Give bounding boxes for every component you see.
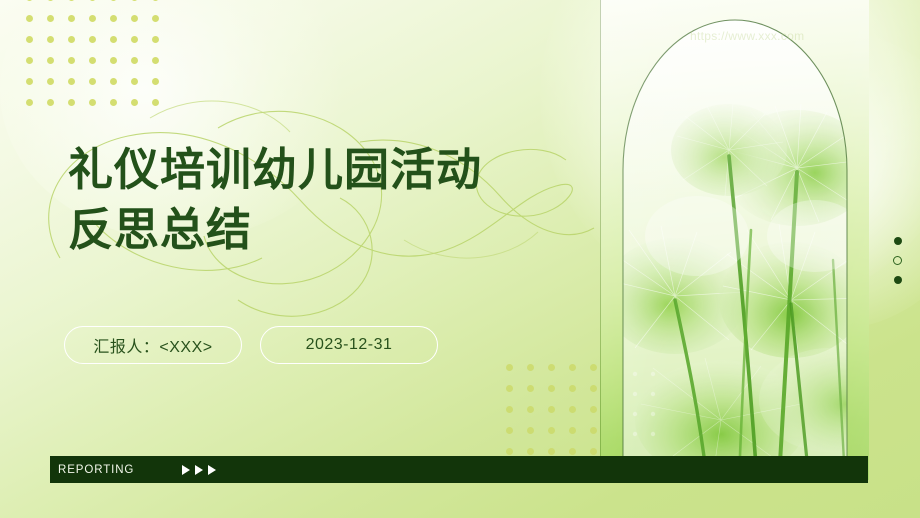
- decor-dot: [527, 448, 534, 455]
- decor-dot: [26, 36, 33, 43]
- decor-dot: [506, 406, 513, 413]
- decor-dot: [152, 57, 159, 64]
- decor-dot: [47, 36, 54, 43]
- decor-dot: [590, 406, 597, 413]
- decor-dot: [47, 78, 54, 85]
- decor-dot: [527, 427, 534, 434]
- page-title: 礼仪培训幼儿园活动 反思总结: [68, 140, 568, 260]
- decor-dot: [26, 99, 33, 106]
- reporting-label: REPORTING: [58, 464, 134, 476]
- decor-dot: [569, 385, 576, 392]
- presentation-slide: https://www.xxx.com 礼仪培训幼儿园活动 反思总结 汇报人：<…: [0, 0, 920, 518]
- presenter-pill[interactable]: 汇报人：<XXX>: [64, 326, 242, 364]
- lotus-leaf-illustration: [601, 0, 869, 480]
- decor-dot: [152, 36, 159, 43]
- decor-dot: [89, 99, 96, 106]
- decor-dot: [26, 0, 33, 1]
- decor-dot: [68, 15, 75, 22]
- decorative-dot-grid-top-left: [26, 0, 173, 120]
- decor-dot: [47, 99, 54, 106]
- play-triangle-icon: [195, 465, 203, 475]
- decor-dot: [47, 0, 54, 1]
- decor-dot: [527, 364, 534, 371]
- dot-filled-bottom-icon[interactable]: [894, 276, 902, 284]
- decor-dot: [89, 15, 96, 22]
- decor-dot: [110, 78, 117, 85]
- decor-dot: [506, 448, 513, 455]
- decor-dot: [131, 15, 138, 22]
- decor-dot: [89, 0, 96, 1]
- reporting-bar: REPORTING: [50, 456, 868, 483]
- title-block: 礼仪培训幼儿园活动 反思总结: [68, 140, 568, 260]
- decor-dot: [47, 15, 54, 22]
- decor-dot: [548, 385, 555, 392]
- decor-dot: [527, 385, 534, 392]
- decor-dot: [68, 78, 75, 85]
- decor-dot: [590, 427, 597, 434]
- decor-dot: [131, 78, 138, 85]
- decor-dot: [506, 385, 513, 392]
- decor-dot: [569, 427, 576, 434]
- decor-dot: [26, 15, 33, 22]
- decor-dot: [152, 15, 159, 22]
- decor-dot: [131, 99, 138, 106]
- decor-dot: [110, 36, 117, 43]
- decor-dot: [590, 448, 597, 455]
- play-triangle-icon: [182, 465, 190, 475]
- decor-dot: [131, 0, 138, 1]
- side-dot-indicator[interactable]: [893, 237, 902, 284]
- hero-image-panel: [600, 0, 869, 480]
- decor-dot: [569, 448, 576, 455]
- play-triangle-icon: [208, 465, 216, 475]
- decor-dot: [506, 427, 513, 434]
- decor-dot: [26, 78, 33, 85]
- decor-dot: [47, 57, 54, 64]
- dot-filled-top-icon[interactable]: [894, 237, 902, 245]
- decor-dot: [590, 364, 597, 371]
- decor-dot: [548, 427, 555, 434]
- decor-dot: [131, 36, 138, 43]
- decor-dot: [89, 36, 96, 43]
- meta-pill-row: 汇报人：<XXX> 2023-12-31: [64, 326, 438, 364]
- decor-dot: [569, 406, 576, 413]
- decor-dot: [68, 99, 75, 106]
- decor-dot: [110, 57, 117, 64]
- decor-dot: [152, 78, 159, 85]
- reporting-arrows: [182, 465, 216, 475]
- decor-dot: [89, 57, 96, 64]
- dot-hollow-middle-icon[interactable]: [893, 256, 902, 265]
- decor-dot: [548, 364, 555, 371]
- decor-dot: [68, 0, 75, 1]
- decor-dot: [590, 385, 597, 392]
- decor-dot: [131, 57, 138, 64]
- decor-dot: [569, 364, 576, 371]
- date-pill[interactable]: 2023-12-31: [260, 326, 438, 364]
- decor-dot: [68, 36, 75, 43]
- decor-dot: [89, 78, 96, 85]
- decor-dot: [527, 406, 534, 413]
- decor-dot: [548, 448, 555, 455]
- decor-dot: [110, 99, 117, 106]
- decor-dot: [110, 15, 117, 22]
- decor-dot: [548, 406, 555, 413]
- decor-dot: [26, 57, 33, 64]
- decor-dot: [68, 57, 75, 64]
- decor-dot: [152, 0, 159, 1]
- decor-dot: [110, 0, 117, 1]
- decor-dot: [506, 364, 513, 371]
- decor-dot: [152, 99, 159, 106]
